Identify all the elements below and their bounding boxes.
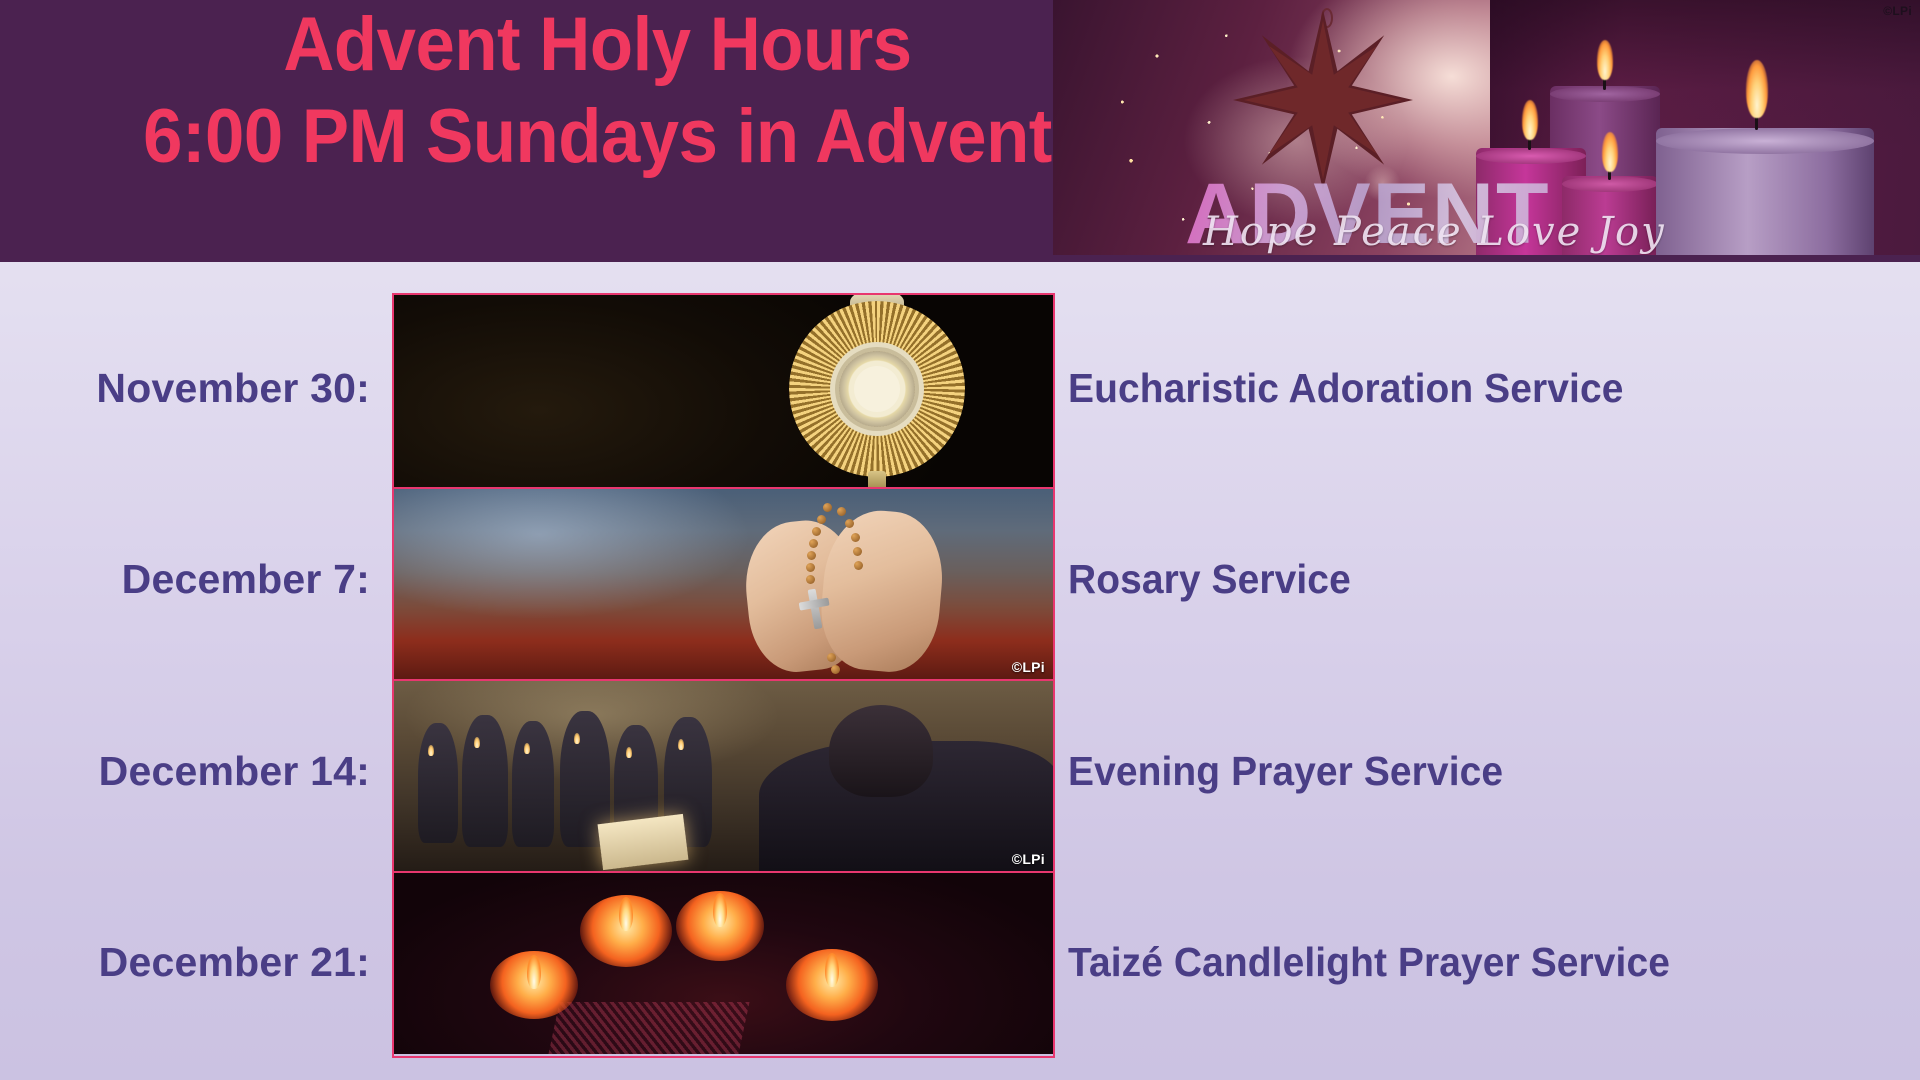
- tea-light-3-flame: [527, 955, 541, 989]
- congregant: [462, 715, 508, 847]
- advent-holy-hours-slide: Advent Holy Hours 6:00 PM Sundays in Adv…: [0, 0, 1920, 1080]
- photo-evening-prayer: ©LPi: [394, 681, 1053, 873]
- service-row-2: Rosary Service: [1068, 484, 1920, 675]
- slide-header: Advent Holy Hours 6:00 PM Sundays in Adv…: [0, 0, 1920, 262]
- advent-candle-back-flame: [1597, 40, 1613, 80]
- date-label-3: December 14:: [0, 748, 392, 795]
- date-row-3: December 14:: [0, 676, 392, 867]
- rosary-beads: [797, 503, 867, 679]
- foreground-worshipper-head: [829, 705, 933, 797]
- date-label-2: December 7:: [0, 556, 392, 603]
- date-row-1: November 30:: [0, 293, 392, 484]
- advent-candle-pink-flame: [1522, 100, 1538, 140]
- crucifix-icon: [807, 589, 822, 630]
- page-title-line-2: 6:00 PM Sundays in Advent: [42, 98, 1153, 176]
- photo-strip: ©LPi ©LPi: [392, 293, 1055, 1058]
- page-title-line-1: Advent Holy Hours: [42, 6, 1153, 84]
- date-label-1: November 30:: [0, 365, 392, 412]
- tea-light-4-flame: [825, 953, 839, 987]
- photo-credit-rosary: ©LPi: [1012, 659, 1045, 675]
- candle-mat: [548, 1002, 749, 1054]
- service-row-1: Eucharistic Adoration Service: [1068, 293, 1920, 484]
- date-row-2: December 7:: [0, 484, 392, 675]
- congregant: [512, 721, 554, 847]
- service-row-3: Evening Prayer Service: [1068, 676, 1920, 867]
- photo-eucharistic-adoration: [394, 295, 1053, 489]
- tea-light-2-flame: [713, 893, 727, 927]
- dates-column: November 30: December 7: December 14: De…: [0, 293, 392, 1058]
- congregant: [418, 723, 458, 843]
- praying-hands: [737, 493, 967, 679]
- date-row-4: December 21:: [0, 867, 392, 1058]
- photo-rosary: ©LPi: [394, 489, 1053, 681]
- advent-tagline: Hope Peace Love Joy: [1203, 209, 1666, 255]
- photo-credit-evening-prayer: ©LPi: [1012, 851, 1045, 867]
- banner-credit: ©LPi: [1883, 4, 1912, 18]
- tea-light-1-flame: [619, 897, 633, 931]
- monstrance-stem: [868, 471, 886, 489]
- monstrance-icon: [789, 301, 965, 477]
- service-label-1: Eucharistic Adoration Service: [1068, 365, 1623, 412]
- service-label-3: Evening Prayer Service: [1068, 748, 1503, 795]
- services-column: Eucharistic Adoration Service Rosary Ser…: [1068, 293, 1920, 1058]
- photo-taize-candles: [394, 873, 1053, 1054]
- service-row-4: Taizé Candlelight Prayer Service: [1068, 867, 1920, 1058]
- prayer-sheet: [598, 814, 689, 870]
- service-label-2: Rosary Service: [1068, 556, 1351, 603]
- title-block: Advent Holy Hours 6:00 PM Sundays in Adv…: [0, 6, 1195, 177]
- advent-candle-front: [1656, 128, 1874, 255]
- eucharistic-host: [854, 366, 900, 412]
- star-ornament-icon: [1233, 10, 1413, 190]
- date-label-4: December 21:: [0, 939, 392, 986]
- service-label-4: Taizé Candlelight Prayer Service: [1068, 939, 1670, 986]
- advent-candle-front-flame: [1746, 60, 1768, 118]
- advent-banner-image: ADVENT Hope Peace Love Joy ©LPi: [1053, 0, 1920, 255]
- advent-candle-mid-flame: [1602, 132, 1618, 172]
